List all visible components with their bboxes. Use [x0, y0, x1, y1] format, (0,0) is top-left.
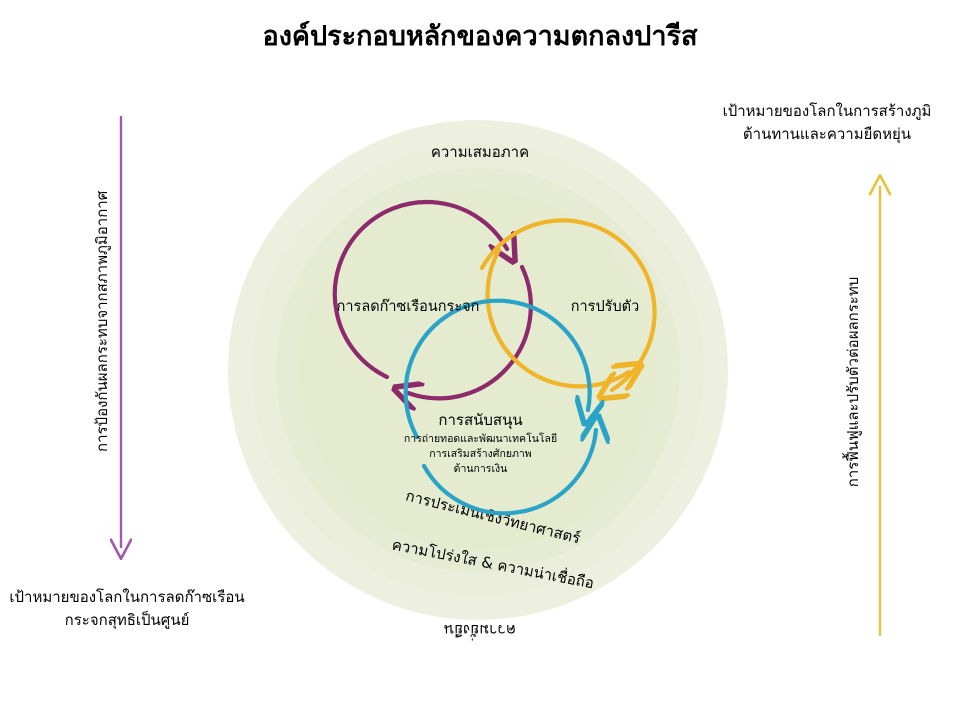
mitigation-arc — [335, 202, 507, 377]
label-support-sub-3: ด้านการเงิน — [388, 462, 573, 477]
label-adaptation: การปรับตัว — [530, 295, 680, 318]
caption-net-zero-goal: เป้าหมายของโลกในการลดก๊าซเรือนกระจกสุทธิ… — [2, 586, 252, 631]
label-support: การสนับสนุน การถ่ายทอดและพัฒนาเทคโนโลยี … — [388, 408, 573, 478]
label-support-title: การสนับสนุน — [438, 411, 522, 429]
label-mitigation: การลดก๊าซเรือนกระจก — [318, 295, 498, 318]
label-support-sub-1: การถ่ายทอดและพัฒนาเทคโนโลยี — [388, 432, 573, 447]
axis-label-left: การป้องกันผลกระทบจากสภาพภูมิอากาศ — [90, 242, 114, 452]
caption-global-resilience-goal: เป้าหมายของโลกในการสร้างภูมิต้านทานและคว… — [702, 100, 952, 145]
label-support-sub-2: การเสริมสร้างศักยภาพ — [388, 447, 573, 462]
axis-label-right: การฟื้นฟูและปรับตัวต่อผลกระทบ — [841, 267, 865, 497]
diagram-canvas: องค์ประกอบหลักของความตกลงปารีส ความเสมอภ… — [0, 0, 960, 720]
